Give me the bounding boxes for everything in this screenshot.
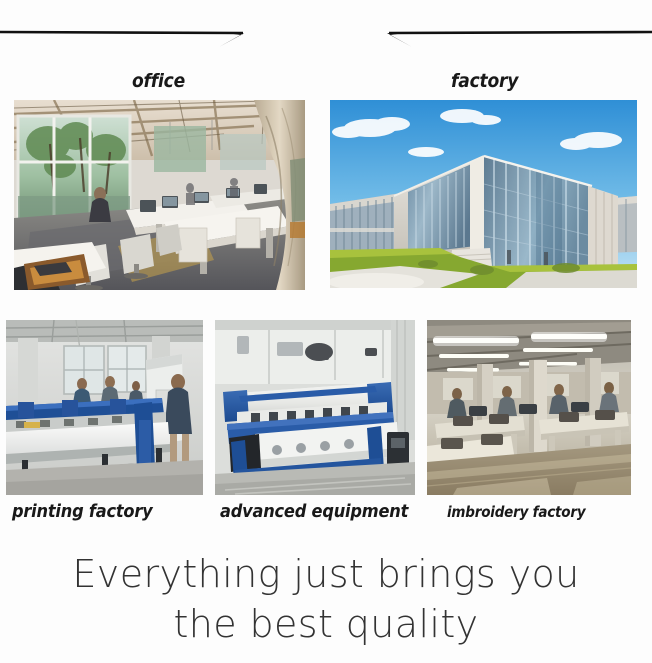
- arrow-decorations: [0, 0, 652, 62]
- open-plan-office-photo: [14, 100, 305, 290]
- glass-office-building-photo: [330, 100, 637, 288]
- tagline-line-1: Everything just brings you: [0, 552, 652, 596]
- sewing-workshop-photo: [427, 320, 631, 495]
- photo-office: [14, 100, 305, 290]
- photo-imbroidery-factory: [427, 320, 631, 495]
- company-profile-banner: office factory: [0, 0, 652, 663]
- caption-printing-factory: printing factory: [12, 501, 152, 522]
- arrow-left-line: [387, 32, 652, 47]
- caption-factory: factory: [451, 70, 518, 92]
- photo-factory: [330, 100, 637, 288]
- arrow-right-line: [0, 32, 244, 47]
- photo-advanced-equipment: [215, 320, 415, 495]
- caption-imbroidery-factory: imbroidery factory: [447, 503, 585, 521]
- photo-printing-factory: [6, 320, 203, 495]
- caption-office: office: [132, 70, 185, 92]
- caption-advanced-equipment: advanced equipment: [220, 501, 408, 522]
- printing-workshop-photo: [6, 320, 203, 495]
- tagline-line-2: the best quality: [0, 602, 652, 646]
- wide-format-printer-photo: [215, 320, 415, 495]
